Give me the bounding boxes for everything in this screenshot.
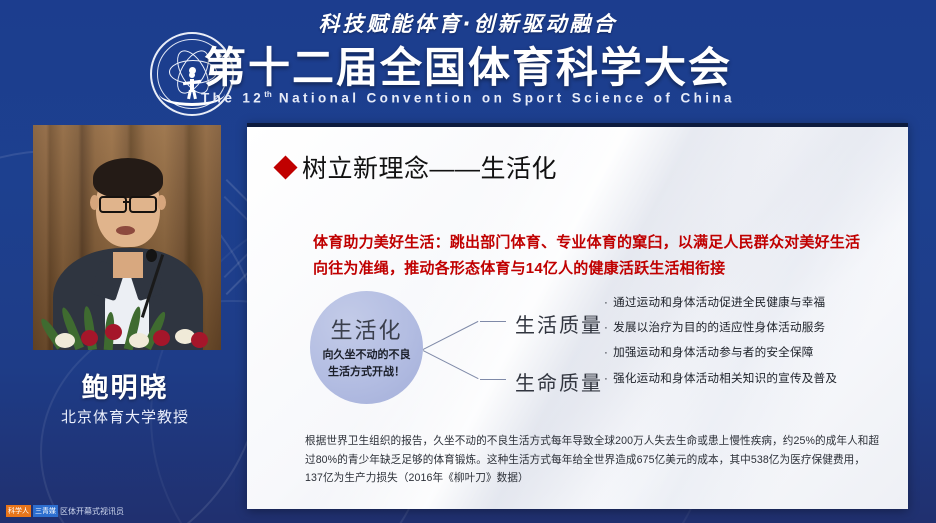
diamond-bullet-icon — [273, 155, 297, 179]
slide-title-row: 树立新理念——生活化 — [277, 149, 557, 185]
branch-label-quality-of-health: 生命质量 — [515, 367, 603, 396]
photo-glasses-left — [99, 196, 127, 213]
watermark-badge-orange: 科学人 — [6, 505, 31, 517]
list-item: 加强运动和身体活动参与者的安全保障 — [604, 347, 894, 359]
subtitle-ordinal: th — [264, 90, 272, 99]
concept-circle-title: 生活化 — [310, 313, 423, 345]
watermark-text: 区体开幕式视讯员 — [60, 506, 124, 517]
microphone-head-icon — [146, 249, 157, 262]
conference-title: 第十二届全国体育科学大会 — [0, 34, 936, 95]
photo-glasses-right — [129, 196, 157, 213]
subtitle-suffix: National Convention on Sport Science of … — [279, 91, 735, 106]
slide-bullet-list: 通过运动和身体活动促进全民健康与幸福 发展以治疗为目的的适应性身体活动服务 加强… — [604, 297, 894, 398]
speaker-name: 鲍明晓 — [0, 366, 250, 405]
slide-footnote: 根据世界卫生组织的报告，久坐不动的不良生活方式每年导致全球200万人失去生命或患… — [305, 432, 880, 488]
broadcast-watermark: 科学人 三青媒 区体开幕式视讯员 — [6, 505, 124, 517]
photo-hair — [93, 158, 163, 198]
concept-circle-subtitle-line1: 向久坐不动的不良 — [310, 347, 423, 364]
watermark-badge-blue: 三青媒 — [33, 505, 58, 517]
photo-neck — [113, 252, 143, 278]
subtitle-prefix: The 12 — [201, 91, 264, 106]
conference-subtitle-english: The 12th National Convention on Sport Sc… — [0, 90, 936, 106]
concept-circle: 生活化 向久坐不动的不良 生活方式开战！ — [310, 291, 423, 404]
slide-panel: 树立新理念——生活化 体育助力美好生活：跳出部门体育、专业体育的窠臼，以满足人民… — [247, 123, 908, 509]
slide-title: 树立新理念——生活化 — [302, 149, 557, 185]
conference-header: 科技赋能体育·创新驱动融合 第十二届全国体育科学大会 The 12th Nati… — [0, 0, 936, 118]
connector-stub-lower — [480, 379, 506, 380]
connector-stub-upper — [480, 321, 506, 322]
slide-highlight-paragraph: 体育助力美好生活：跳出部门体育、专业体育的窠臼，以满足人民群众对美好生活向往为准… — [313, 230, 865, 283]
presentation-stage: 科技赋能体育·创新驱动融合 第十二届全国体育科学大会 The 12th Nati… — [0, 0, 936, 523]
photo-flower-arrangement — [33, 302, 221, 350]
connector-line-upper — [423, 321, 479, 350]
speaker-photo — [33, 125, 221, 350]
concept-circle-subtitle-line2: 生活方式开战！ — [310, 364, 423, 381]
concept-circle-subtitle: 向久坐不动的不良 生活方式开战！ — [310, 347, 423, 380]
photo-ear-right — [157, 195, 166, 210]
branch-label-quality-of-life: 生活质量 — [515, 309, 603, 338]
connector-line-lower — [423, 350, 479, 379]
speaker-affiliation: 北京体育大学教授 — [0, 406, 250, 427]
list-item: 通过运动和身体活动促进全民健康与幸福 — [604, 297, 894, 309]
photo-ear-left — [90, 195, 99, 210]
photo-glasses-bridge — [123, 201, 129, 203]
list-item: 强化运动和身体活动相关知识的宣传及普及 — [604, 373, 894, 385]
list-item: 发展以治疗为目的的适应性身体活动服务 — [604, 322, 894, 334]
photo-mouth — [116, 226, 135, 235]
